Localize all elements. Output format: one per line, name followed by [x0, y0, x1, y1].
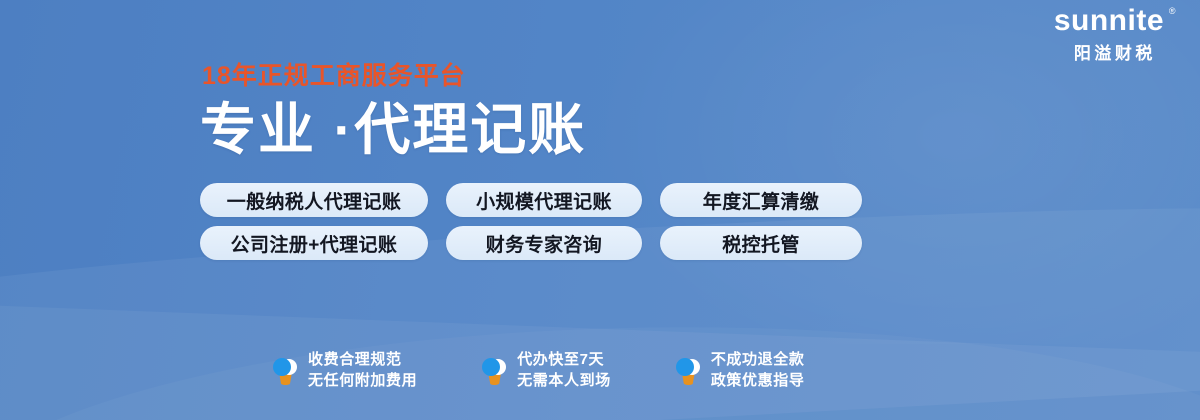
logo-wordmark-text: sunnite: [1054, 4, 1164, 37]
feature-line-2: 无任何附加费用: [308, 370, 417, 392]
feature-line-2: 政策优惠指导: [711, 370, 805, 392]
badge-icon-dot: [676, 358, 694, 376]
brand-logo[interactable]: sunnite ® 阳溢财税: [1054, 6, 1176, 62]
service-pill-row-1: 一般纳税人代理记账 小规模代理记账 年度汇算清缴: [200, 183, 920, 217]
feature-text: 代办快至7天 无需本人到场: [517, 349, 611, 393]
feature-line-1: 不成功退全款: [711, 349, 805, 371]
feature-strip: 收费合理规范 无任何附加费用 代办快至7天 无需本人到场 不成功退全款: [272, 349, 804, 393]
feature-line-2: 无需本人到场: [517, 370, 611, 392]
registered-trademark-icon: ®: [1169, 7, 1176, 16]
badge-icon: [675, 355, 701, 385]
service-pill[interactable]: 财务专家咨询: [446, 226, 642, 260]
promo-banner: sunnite ® 阳溢财税 18年正规工商服务平台 专业 ·代理记账 一般纳税…: [0, 0, 1200, 420]
feature-line-1: 收费合理规范: [308, 349, 417, 371]
service-pill[interactable]: 年度汇算清缴: [660, 183, 862, 217]
service-pill[interactable]: 税控托管: [660, 226, 862, 260]
feature-item: 不成功退全款 政策优惠指导: [675, 349, 805, 393]
service-pill[interactable]: 公司注册+代理记账: [200, 226, 428, 260]
service-pill-row-2: 公司注册+代理记账 财务专家咨询 税控托管: [200, 226, 920, 260]
service-pill[interactable]: 小规模代理记账: [446, 183, 642, 217]
feature-item: 收费合理规范 无任何附加费用: [272, 349, 417, 393]
badge-icon: [481, 355, 507, 385]
feature-line-1: 代办快至7天: [517, 349, 611, 371]
service-pill-group: 一般纳税人代理记账 小规模代理记账 年度汇算清缴 公司注册+代理记账 财务专家咨…: [200, 183, 920, 260]
badge-icon: [272, 355, 298, 385]
feature-text: 不成功退全款 政策优惠指导: [711, 349, 805, 393]
logo-wordmark: sunnite ®: [1054, 6, 1176, 36]
service-pill[interactable]: 一般纳税人代理记账: [200, 183, 428, 217]
hero-headline: 专业 ·代理记账: [200, 99, 920, 162]
feature-item: 代办快至7天 无需本人到场: [481, 349, 611, 393]
hero-eyebrow: 18年正规工商服务平台: [202, 62, 920, 91]
hero-content: 18年正规工商服务平台 专业 ·代理记账 一般纳税人代理记账 小规模代理记账 年…: [200, 62, 920, 260]
feature-text: 收费合理规范 无任何附加费用: [308, 349, 417, 393]
logo-chinese-name: 阳溢财税: [1054, 45, 1176, 62]
